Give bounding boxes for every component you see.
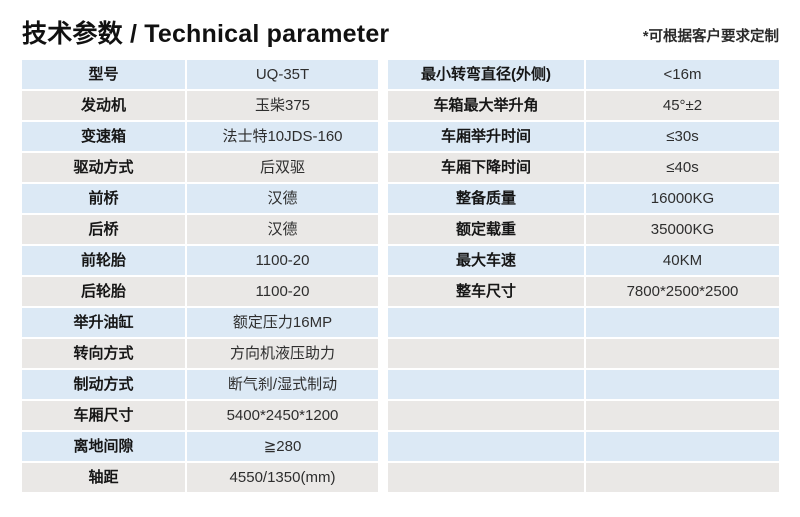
table-row xyxy=(388,432,779,461)
spec-value-cell: 方向机液压助力 xyxy=(187,339,378,368)
table-row xyxy=(388,339,779,368)
spec-label-cell xyxy=(388,432,584,461)
table-row: 制动方式断气刹/湿式制动 xyxy=(22,370,378,399)
table-row: 型号UQ-35T xyxy=(22,60,378,89)
spec-label-cell: 车箱最大举升角 xyxy=(388,91,584,120)
spec-label-cell: 离地间隙 xyxy=(22,432,185,461)
spec-label-cell xyxy=(388,339,584,368)
table-row: 举升油缸额定压力16MP xyxy=(22,308,378,337)
table-row: 后桥汉德 xyxy=(22,215,378,244)
spec-value-cell: UQ-35T xyxy=(187,60,378,89)
spec-value-cell: 1100-20 xyxy=(187,277,378,306)
spec-value-cell: 4550/1350(mm) xyxy=(187,463,378,492)
page-title: 技术参数 / Technical parameter xyxy=(22,14,389,50)
spec-value-cell xyxy=(586,308,779,337)
table-row: 转向方式方向机液压助力 xyxy=(22,339,378,368)
spec-value-cell: ≧280 xyxy=(187,432,378,461)
spec-value-cell: 16000KG xyxy=(586,184,779,213)
spec-label-cell: 轴距 xyxy=(22,463,185,492)
spec-label-cell xyxy=(388,308,584,337)
table-row: 最小转弯直径(外侧)<16m xyxy=(388,60,779,89)
table-row: 发动机玉柴375 xyxy=(22,91,378,120)
spec-label-cell: 举升油缸 xyxy=(22,308,185,337)
spec-label-cell: 车厢下降时间 xyxy=(388,153,584,182)
spec-value-cell: 40KM xyxy=(586,246,779,275)
spec-value-cell: <16m xyxy=(586,60,779,89)
table-row: 车厢举升时间≤30s xyxy=(388,122,779,151)
spec-value-cell xyxy=(586,370,779,399)
spec-label-cell: 最小转弯直径(外侧) xyxy=(388,60,584,89)
table-row: 后轮胎1100-20 xyxy=(22,277,378,306)
spec-label-cell xyxy=(388,401,584,430)
table-row xyxy=(388,370,779,399)
spec-value-cell: 断气刹/湿式制动 xyxy=(187,370,378,399)
table-row: 离地间隙≧280 xyxy=(22,432,378,461)
spec-value-cell: 法士特10JDS-160 xyxy=(187,122,378,151)
table-row: 前桥汉德 xyxy=(22,184,378,213)
table-row: 驱动方式后双驱 xyxy=(22,153,378,182)
spec-value-cell: 汉德 xyxy=(187,215,378,244)
spec-value-cell: 35000KG xyxy=(586,215,779,244)
table-row: 前轮胎1100-20 xyxy=(22,246,378,275)
customization-note: *可根据客户要求定制 xyxy=(643,25,779,46)
table-row: 车厢尺寸5400*2450*1200 xyxy=(22,401,378,430)
spec-label-cell: 驱动方式 xyxy=(22,153,185,182)
spec-label-cell: 整备质量 xyxy=(388,184,584,213)
table-row: 整车尺寸7800*2500*2500 xyxy=(388,277,779,306)
spec-value-cell: 7800*2500*2500 xyxy=(586,277,779,306)
spec-label-cell: 车厢尺寸 xyxy=(22,401,185,430)
spec-label-cell xyxy=(388,463,584,492)
spec-label-cell: 额定载重 xyxy=(388,215,584,244)
table-row: 整备质量16000KG xyxy=(388,184,779,213)
spec-value-cell: ≤40s xyxy=(586,153,779,182)
spec-label-cell: 车厢举升时间 xyxy=(388,122,584,151)
table-row: 轴距4550/1350(mm) xyxy=(22,463,378,492)
spec-value-cell: 汉德 xyxy=(187,184,378,213)
spec-label-cell: 后轮胎 xyxy=(22,277,185,306)
spec-label-cell xyxy=(388,370,584,399)
spec-label-cell: 转向方式 xyxy=(22,339,185,368)
spec-label-cell: 前桥 xyxy=(22,184,185,213)
spec-label-cell: 后桥 xyxy=(22,215,185,244)
spec-value-cell: 5400*2450*1200 xyxy=(187,401,378,430)
spec-value-cell: 玉柴375 xyxy=(187,91,378,120)
table-row: 车箱最大举升角45°±2 xyxy=(388,91,779,120)
table-row: 最大车速40KM xyxy=(388,246,779,275)
spec-table-left: 型号UQ-35T发动机玉柴375变速箱法士特10JDS-160驱动方式后双驱前桥… xyxy=(22,60,378,494)
table-row xyxy=(388,308,779,337)
spec-label-cell: 型号 xyxy=(22,60,185,89)
spec-value-cell xyxy=(586,401,779,430)
spec-value-cell: ≤30s xyxy=(586,122,779,151)
spec-label-cell: 制动方式 xyxy=(22,370,185,399)
spec-value-cell xyxy=(586,432,779,461)
table-row: 车厢下降时间≤40s xyxy=(388,153,779,182)
table-row xyxy=(388,463,779,492)
spec-value-cell: 后双驱 xyxy=(187,153,378,182)
spec-label-cell: 整车尺寸 xyxy=(388,277,584,306)
table-row: 变速箱法士特10JDS-160 xyxy=(22,122,378,151)
spec-value-cell xyxy=(586,339,779,368)
table-row xyxy=(388,401,779,430)
spec-label-cell: 发动机 xyxy=(22,91,185,120)
spec-value-cell xyxy=(586,463,779,492)
spec-value-cell: 1100-20 xyxy=(187,246,378,275)
spec-table-right: 最小转弯直径(外侧)<16m车箱最大举升角45°±2车厢举升时间≤30s车厢下降… xyxy=(388,60,779,494)
page-header: 技术参数 / Technical parameter *可根据客户要求定制 xyxy=(0,0,800,58)
spec-label-cell: 前轮胎 xyxy=(22,246,185,275)
spec-value-cell: 额定压力16MP xyxy=(187,308,378,337)
spec-label-cell: 最大车速 xyxy=(388,246,584,275)
spec-value-cell: 45°±2 xyxy=(586,91,779,120)
table-row: 额定载重35000KG xyxy=(388,215,779,244)
spec-label-cell: 变速箱 xyxy=(22,122,185,151)
